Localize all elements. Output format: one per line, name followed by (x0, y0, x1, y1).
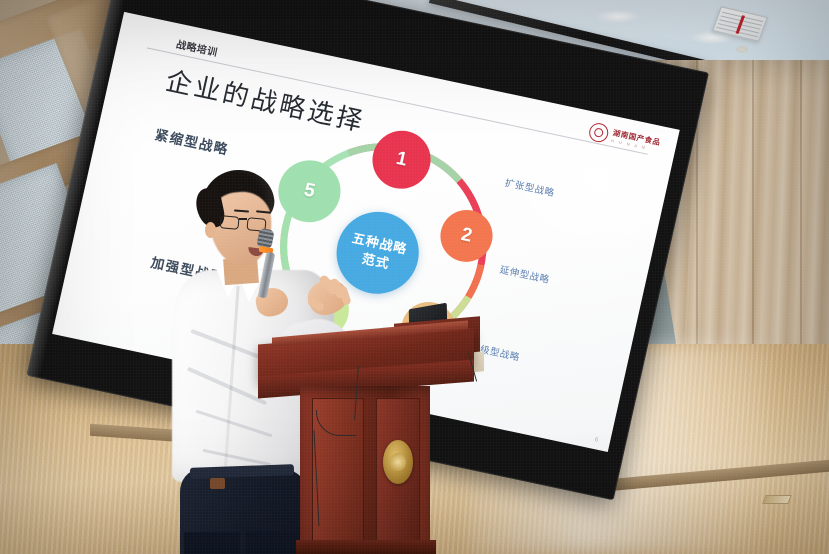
floor-outlet-icon (762, 495, 792, 504)
gold-emblem-icon (383, 440, 413, 484)
photo-scene: 战略培训 企业的战略选择 湖南国产食品 H U N A N (0, 0, 829, 554)
slide-page-number: 6 (594, 437, 599, 444)
presenter-ear (205, 222, 216, 238)
cycle-label-1: 扩张型战略 (504, 175, 556, 199)
ceiling-light-glow (596, 10, 640, 23)
logo-mark-icon (588, 121, 611, 143)
cycle-node-1-number: 1 (394, 148, 409, 172)
podium-base (296, 540, 436, 554)
eyeglasses-icon (219, 215, 239, 230)
presenter-pocket-tag (210, 478, 225, 489)
cycle-label-5: 紧缩型战略 (153, 123, 231, 158)
cycle-label-2: 延伸型战略 (499, 262, 551, 286)
cycle-node-2-number: 2 (459, 224, 474, 248)
ceiling-sensor-icon (736, 46, 748, 53)
